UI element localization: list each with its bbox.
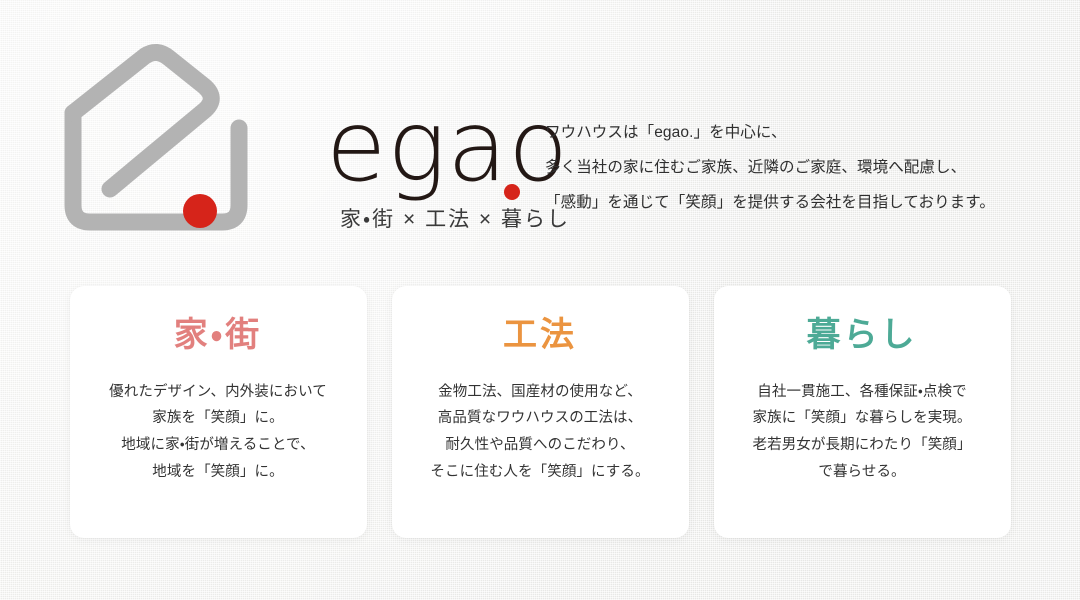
wordmark-period-dot: [504, 184, 520, 200]
feature-card-construction-method[interactable]: 工法 金物工法、国産材の使用など、 高品質なワウハウスの工法は、 耐久性や品質へ…: [392, 286, 689, 538]
feature-card-living[interactable]: 暮らし 自社一貫施工、各種保証・点検で 家族に「笑顔」な暮らしを実現。 老若男女…: [714, 286, 1011, 538]
intro-paragraph: ワウハウスは「egao.」を中心に、 多く当社の家に住むご家族、近隣のご家庭、環…: [545, 124, 1045, 211]
card-title: 家・街: [174, 314, 263, 357]
card-body: 金物工法、国産材の使用など、 高品質なワウハウスの工法は、 耐久性や品質へのこだ…: [430, 379, 649, 486]
card-body: 優れたデザイン、内外装において 家族を「笑顔」に。 地域に家・街が増えることで、…: [109, 379, 327, 486]
feature-card-home-town[interactable]: 家・街 優れたデザイン、内外装において 家族を「笑顔」に。 地域に家・街が増える…: [70, 286, 367, 538]
card-body: 自社一貫施工、各種保証・点検で 家族に「笑顔」な暮らしを実現。 老若男女が長期に…: [753, 379, 972, 486]
brand-tagline: 家・街 × 工法 × 暮らし: [340, 203, 570, 233]
wordmark-text: egao: [326, 98, 569, 196]
logo-block[interactable]: egao 家・街 × 工法 × 暮らし: [62, 38, 532, 248]
card-title: 暮らし: [807, 314, 918, 357]
page-root: egao 家・街 × 工法 × 暮らし ワウハウスは「egao.」を中心に、 多…: [0, 0, 1080, 600]
egao-house-mark-icon: [62, 42, 267, 242]
intro-line-3: 「感動」を通じて「笑顔」を提供する会社を目指しております。: [545, 194, 1045, 211]
egao-wordmark: egao 家・街 × 工法 × 暮らし: [270, 102, 532, 247]
brand-header: egao 家・街 × 工法 × 暮らし ワウハウスは「egao.」を中心に、 多…: [0, 0, 1080, 272]
mark-accent-dot: [183, 194, 217, 228]
intro-line-2: 多く当社の家に住むご家族、近隣のご家庭、環境へ配慮し、: [545, 159, 1045, 176]
card-title: 工法: [503, 314, 577, 357]
intro-line-1: ワウハウスは「egao.」を中心に、: [545, 124, 1045, 141]
feature-card-list: 家・街 優れたデザイン、内外装において 家族を「笑顔」に。 地域に家・街が増える…: [0, 286, 1080, 538]
